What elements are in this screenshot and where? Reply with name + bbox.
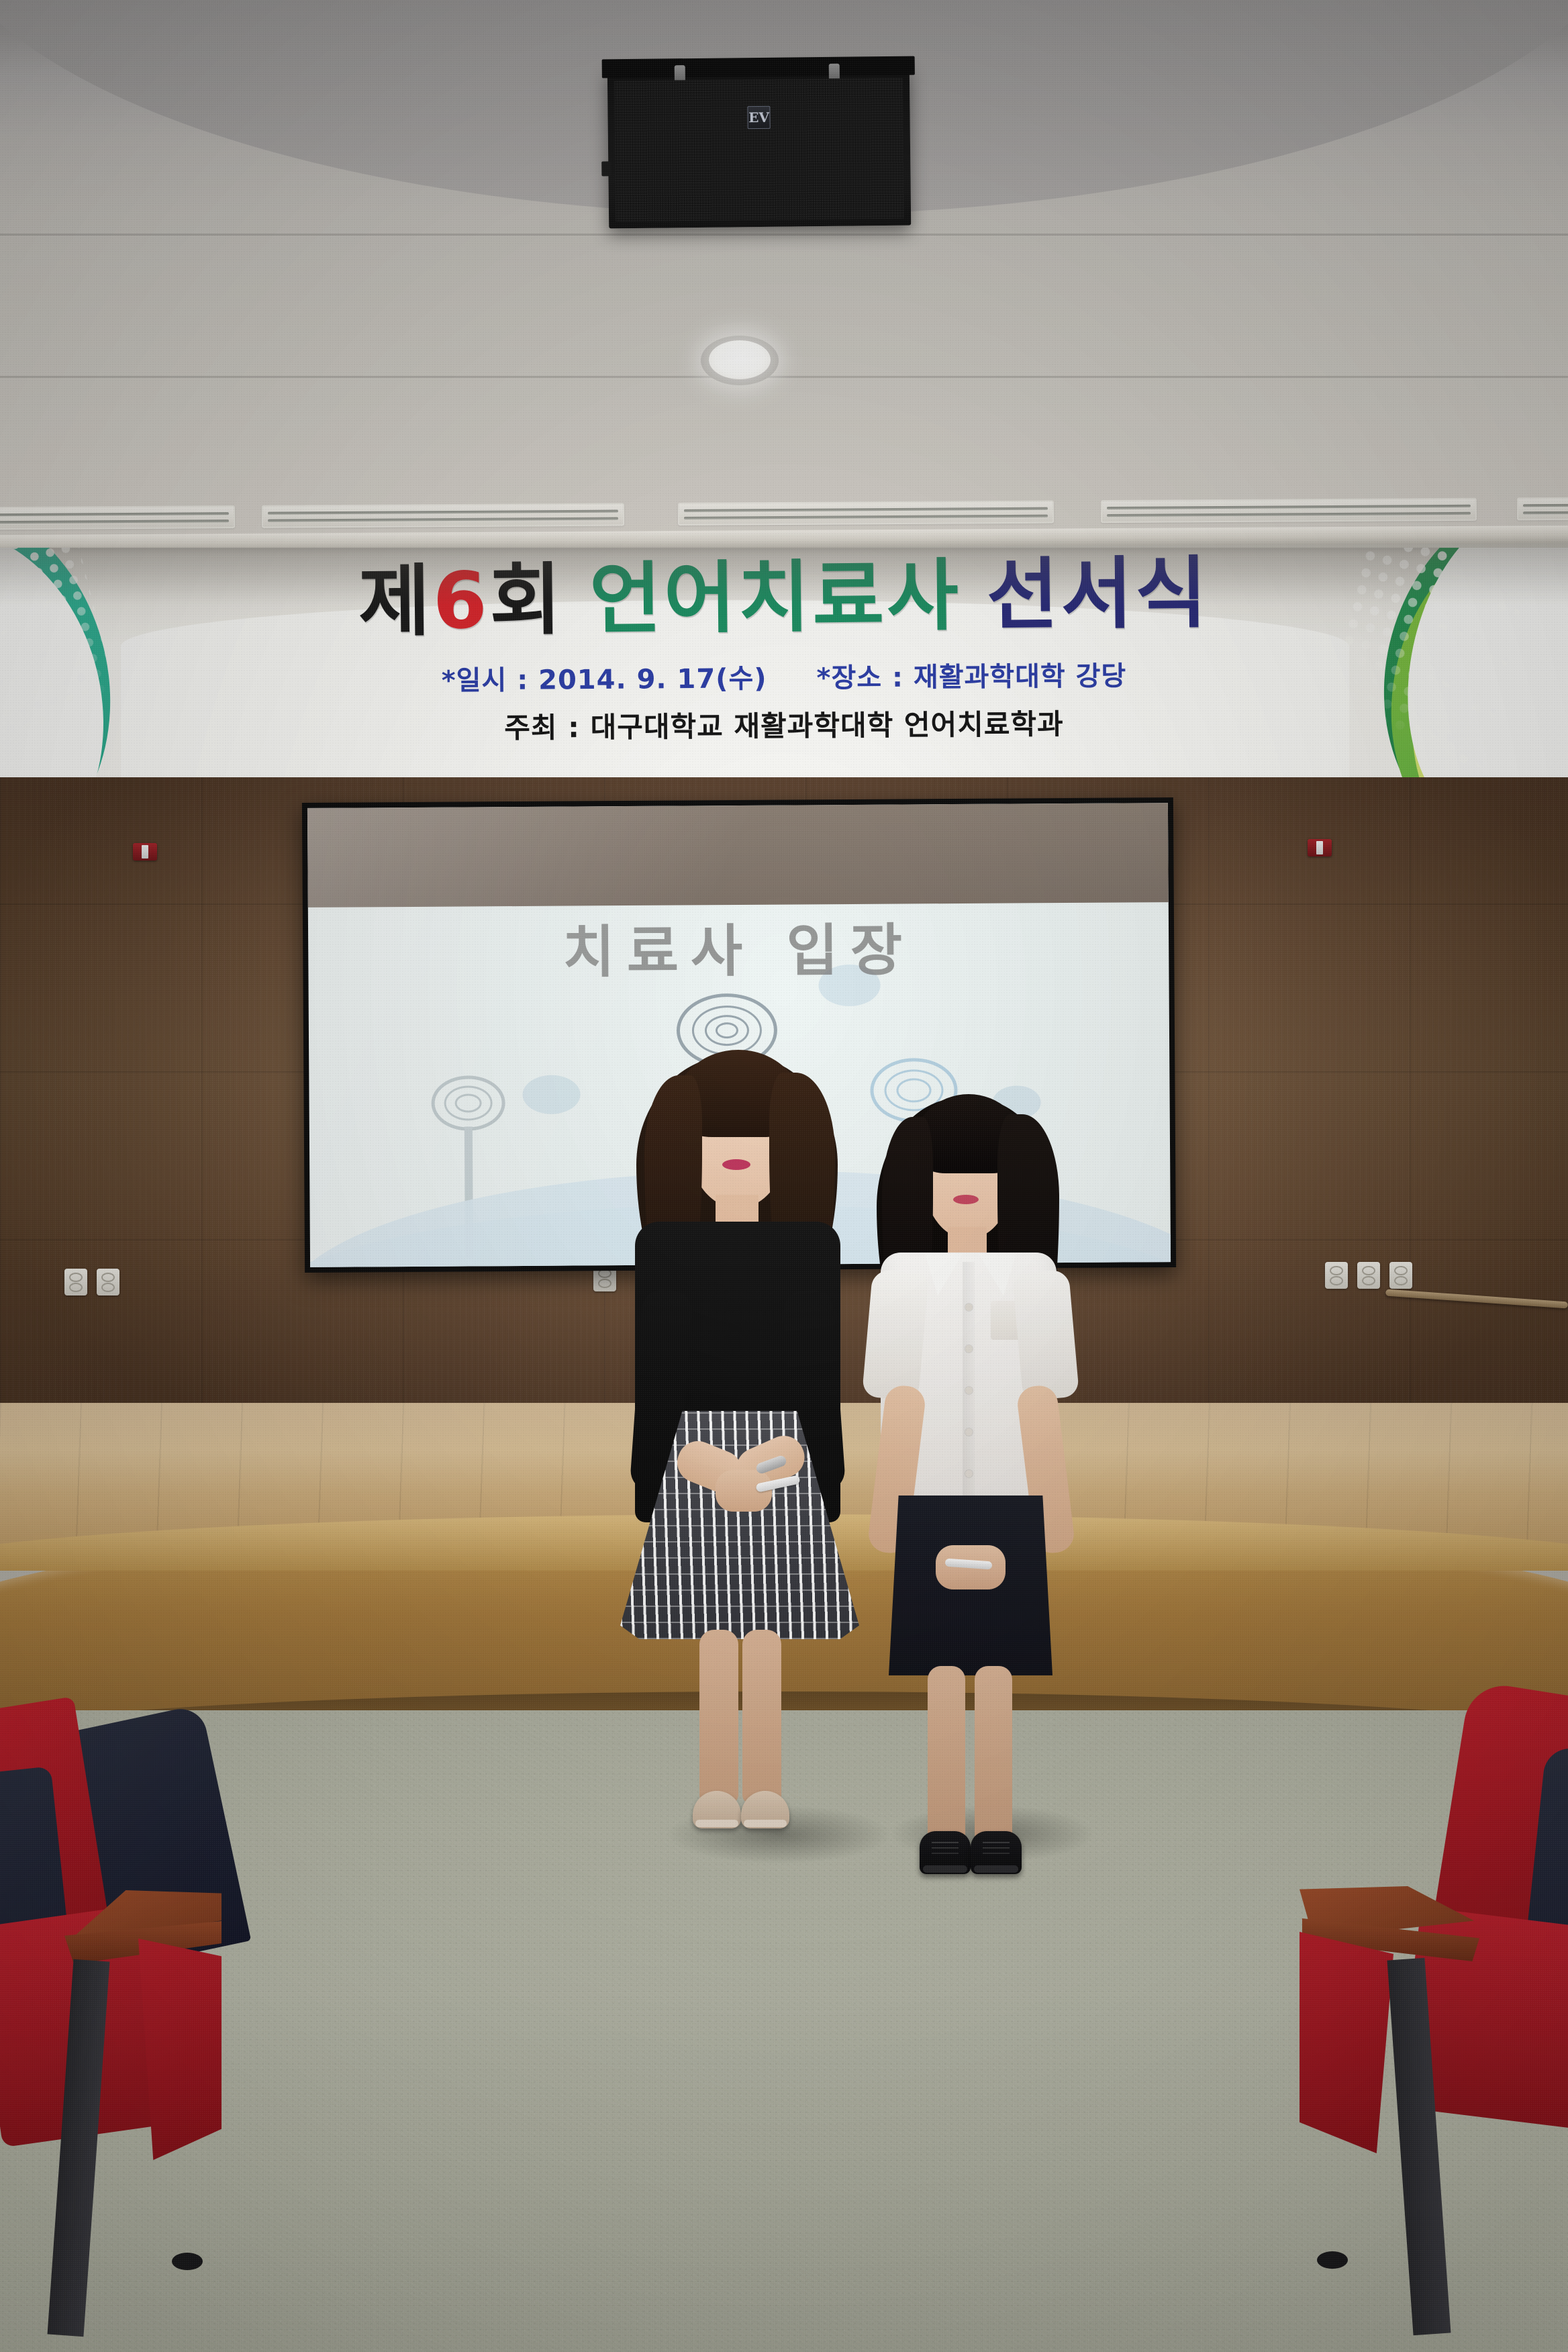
photo-scene: EV 제6회언어치료사선서식 *일시 : 2014. 9. 17(수)*장소 :… — [0, 0, 1568, 2352]
blouse-button — [965, 1304, 973, 1311]
person-woman-right — [850, 1082, 1091, 1854]
speaker-grille — [614, 78, 904, 222]
blouse-button — [965, 1345, 973, 1353]
blouse-button — [965, 1470, 973, 1477]
banner-place-label: *장소 : 재활과학대학 강당 — [816, 660, 1126, 693]
slide-title-text: 치료사 입장 — [308, 903, 1169, 990]
banner-top-shadow — [0, 548, 1568, 605]
air-vent-icon — [0, 505, 235, 530]
blouse-button — [965, 1428, 973, 1436]
air-vent-icon — [1101, 498, 1477, 523]
air-vent-icon — [1517, 497, 1568, 520]
ceiling-speaker: EV — [607, 66, 911, 229]
chair-side-panel — [138, 1939, 222, 2160]
chair-foot — [1317, 2251, 1348, 2269]
power-outlet-icon[interactable] — [1357, 1262, 1380, 1289]
power-outlet-icon[interactable] — [97, 1269, 119, 1295]
banner-date-label: *일시 : 2014. 9. 17(수) — [442, 663, 767, 696]
blouse-button — [965, 1387, 973, 1394]
power-outlet-icon[interactable] — [1389, 1262, 1412, 1289]
power-outlet-icon[interactable] — [1325, 1262, 1348, 1289]
air-vent-icon — [262, 503, 624, 528]
blouse-sleeve-right — [1012, 1269, 1079, 1402]
auditorium-chair-left[interactable] — [0, 1692, 262, 2352]
power-outlet-icon[interactable] — [64, 1269, 87, 1295]
auditorium-chair-right[interactable] — [1275, 1685, 1568, 2352]
leg-left — [928, 1666, 965, 1851]
fire-alarm-icon — [1308, 839, 1332, 856]
slide-blob — [522, 1075, 580, 1114]
ceiling-seam — [0, 376, 1568, 378]
fire-alarm-icon — [133, 843, 157, 861]
event-banner: 제6회언어치료사선서식 *일시 : 2014. 9. 17(수)*장소 : 재활… — [0, 548, 1568, 779]
leg-right — [975, 1666, 1012, 1851]
shoe-right — [741, 1791, 789, 1828]
lips — [722, 1159, 750, 1170]
slide-top-band — [307, 803, 1169, 908]
chair-foot — [172, 2253, 203, 2270]
chair-side-panel — [1300, 1932, 1393, 2153]
speaker-brand-badge: EV — [747, 106, 770, 129]
lips — [953, 1195, 979, 1204]
leg-left — [699, 1630, 738, 1804]
person-woman-left — [597, 1035, 879, 1841]
shoe-left — [920, 1831, 971, 1874]
speaker-mount-plate — [602, 56, 915, 79]
blouse-sleeve-left — [862, 1269, 929, 1402]
speaker-side-tab — [601, 161, 611, 176]
air-vent-icon — [678, 501, 1054, 526]
leg-right — [742, 1630, 781, 1804]
shoe-right — [971, 1831, 1022, 1874]
ceiling-seam — [0, 234, 1568, 236]
ceiling-light-icon — [709, 340, 771, 379]
